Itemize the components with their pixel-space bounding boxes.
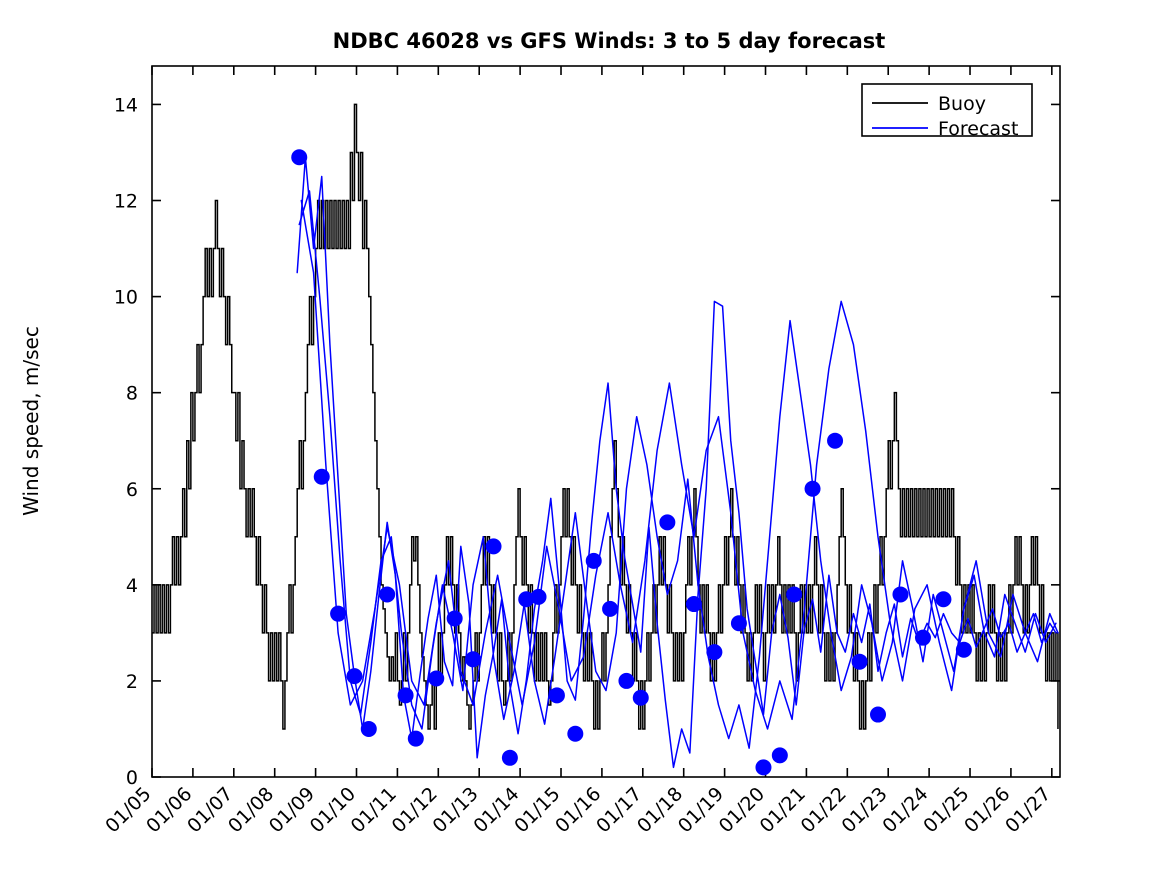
forecast-verification-marker: [935, 591, 951, 607]
forecast-verification-marker: [502, 750, 518, 766]
forecast-verification-marker: [314, 469, 330, 485]
forecast-verification-marker: [956, 642, 972, 658]
y-tick-label: 10: [114, 287, 138, 309]
y-tick-label: 4: [126, 575, 138, 597]
forecast-verification-marker: [633, 690, 649, 706]
y-tick-label: 12: [114, 191, 138, 213]
forecast-verification-marker: [915, 630, 931, 646]
forecast-verification-marker: [827, 433, 843, 449]
y-tick-label: 6: [126, 479, 138, 501]
forecast-verification-marker: [465, 651, 481, 667]
chart-title: NDBC 46028 vs GFS Winds: 3 to 5 day fore…: [333, 29, 886, 53]
forecast-verification-marker: [330, 606, 346, 622]
forecast-verification-marker: [772, 747, 788, 763]
forecast-verification-marker: [486, 538, 502, 554]
forecast-verification-marker: [755, 759, 771, 775]
y-tick-label: 14: [114, 94, 138, 116]
forecast-verification-marker: [379, 586, 395, 602]
forecast-verification-marker: [567, 726, 583, 742]
forecast-verification-marker: [447, 610, 463, 626]
y-axis-label: Wind speed, m/sec: [19, 326, 43, 516]
chart-page: NDBC 46028 vs GFS Winds: 3 to 5 day fore…: [0, 0, 1167, 875]
forecast-verification-marker: [659, 514, 675, 530]
forecast-verification-marker: [618, 673, 634, 689]
forecast-verification-marker: [786, 586, 802, 602]
forecast-verification-marker: [428, 671, 444, 687]
legend-label-buoy: Buoy: [938, 93, 986, 115]
forecast-verification-marker: [805, 481, 821, 497]
forecast-verification-marker: [852, 654, 868, 670]
forecast-verification-marker: [686, 596, 702, 612]
wind-speed-chart: NDBC 46028 vs GFS Winds: 3 to 5 day fore…: [0, 0, 1167, 875]
forecast-verification-marker: [361, 721, 377, 737]
forecast-verification-marker: [549, 687, 565, 703]
forecast-verification-marker: [408, 731, 424, 747]
forecast-verification-marker: [602, 601, 618, 617]
forecast-verification-marker: [870, 707, 886, 723]
chart-legend[interactable]: BuoyForecast: [862, 84, 1032, 140]
forecast-verification-marker: [586, 553, 602, 569]
legend-label-forecast: Forecast: [938, 118, 1018, 140]
y-tick-label: 8: [126, 383, 138, 405]
forecast-verification-marker: [398, 687, 414, 703]
forecast-verification-marker: [531, 589, 547, 605]
y-tick-label: 2: [126, 671, 138, 693]
forecast-verification-marker: [706, 644, 722, 660]
forecast-verification-marker: [291, 149, 307, 165]
forecast-verification-marker: [346, 668, 362, 684]
forecast-verification-marker: [892, 586, 908, 602]
forecast-verification-marker: [731, 615, 747, 631]
